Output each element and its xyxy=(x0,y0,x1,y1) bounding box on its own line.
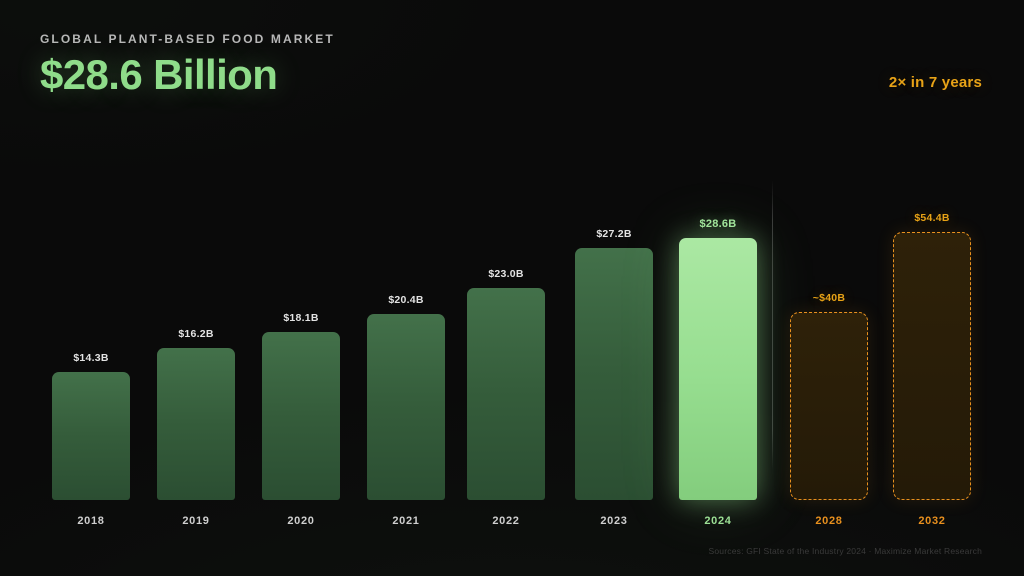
bar-chart: $14.3B2018$16.2B2019$18.1B2020$20.4B2021… xyxy=(0,0,1024,576)
bar-label-2019: 2019 xyxy=(157,515,235,527)
bar-label-2020: 2020 xyxy=(262,515,340,527)
bar-group-2024[interactable]: $28.6B2024 xyxy=(679,238,757,500)
bar-value-2018: $14.3B xyxy=(52,352,130,364)
bar-group-2022[interactable]: $23.0B2022 xyxy=(467,288,545,500)
bar-group-2021[interactable]: $20.4B2021 xyxy=(367,314,445,500)
infographic-poster: GLOBAL PLANT-BASED FOOD MARKET $28.6 Bil… xyxy=(0,0,1024,576)
bar-group-2020[interactable]: $18.1B2020 xyxy=(262,332,340,500)
bar-group-2018[interactable]: $14.3B2018 xyxy=(52,372,130,500)
bar-value-2032: $54.4B xyxy=(893,212,971,224)
bar-group-2023[interactable]: $27.2B2023 xyxy=(575,248,653,500)
bar-value-2022: $23.0B xyxy=(467,268,545,280)
bar-label-2028: 2028 xyxy=(790,515,868,527)
bar-2020[interactable] xyxy=(262,332,340,500)
bar-label-2022: 2022 xyxy=(467,515,545,527)
bar-value-2021: $20.4B xyxy=(367,294,445,306)
bar-value-2019: $16.2B xyxy=(157,328,235,340)
bar-2022[interactable] xyxy=(467,288,545,500)
bar-label-2018: 2018 xyxy=(52,515,130,527)
bar-value-2028: ~$40B xyxy=(790,292,868,304)
bar-group-2028[interactable]: ~$40B2028 xyxy=(790,312,868,500)
bar-label-2023: 2023 xyxy=(575,515,653,527)
bar-label-2032: 2032 xyxy=(893,515,971,527)
sources-note: Sources: GFI State of the Industry 2024 … xyxy=(709,546,983,556)
bar-group-2019[interactable]: $16.2B2019 xyxy=(157,348,235,500)
bar-2021[interactable] xyxy=(367,314,445,500)
bar-value-2023: $27.2B xyxy=(575,228,653,240)
bar-value-2024: $28.6B xyxy=(679,218,757,230)
forecast-divider-line xyxy=(772,180,773,470)
bar-2023[interactable] xyxy=(575,248,653,500)
bar-2024[interactable] xyxy=(679,238,757,500)
bar-2018[interactable] xyxy=(52,372,130,500)
bar-label-2021: 2021 xyxy=(367,515,445,527)
bar-label-2024: 2024 xyxy=(679,515,757,527)
bar-2032[interactable] xyxy=(893,232,971,500)
bar-value-2020: $18.1B xyxy=(262,312,340,324)
bar-group-2032[interactable]: $54.4B2032 xyxy=(893,232,971,500)
bar-2019[interactable] xyxy=(157,348,235,500)
bar-2028[interactable] xyxy=(790,312,868,500)
